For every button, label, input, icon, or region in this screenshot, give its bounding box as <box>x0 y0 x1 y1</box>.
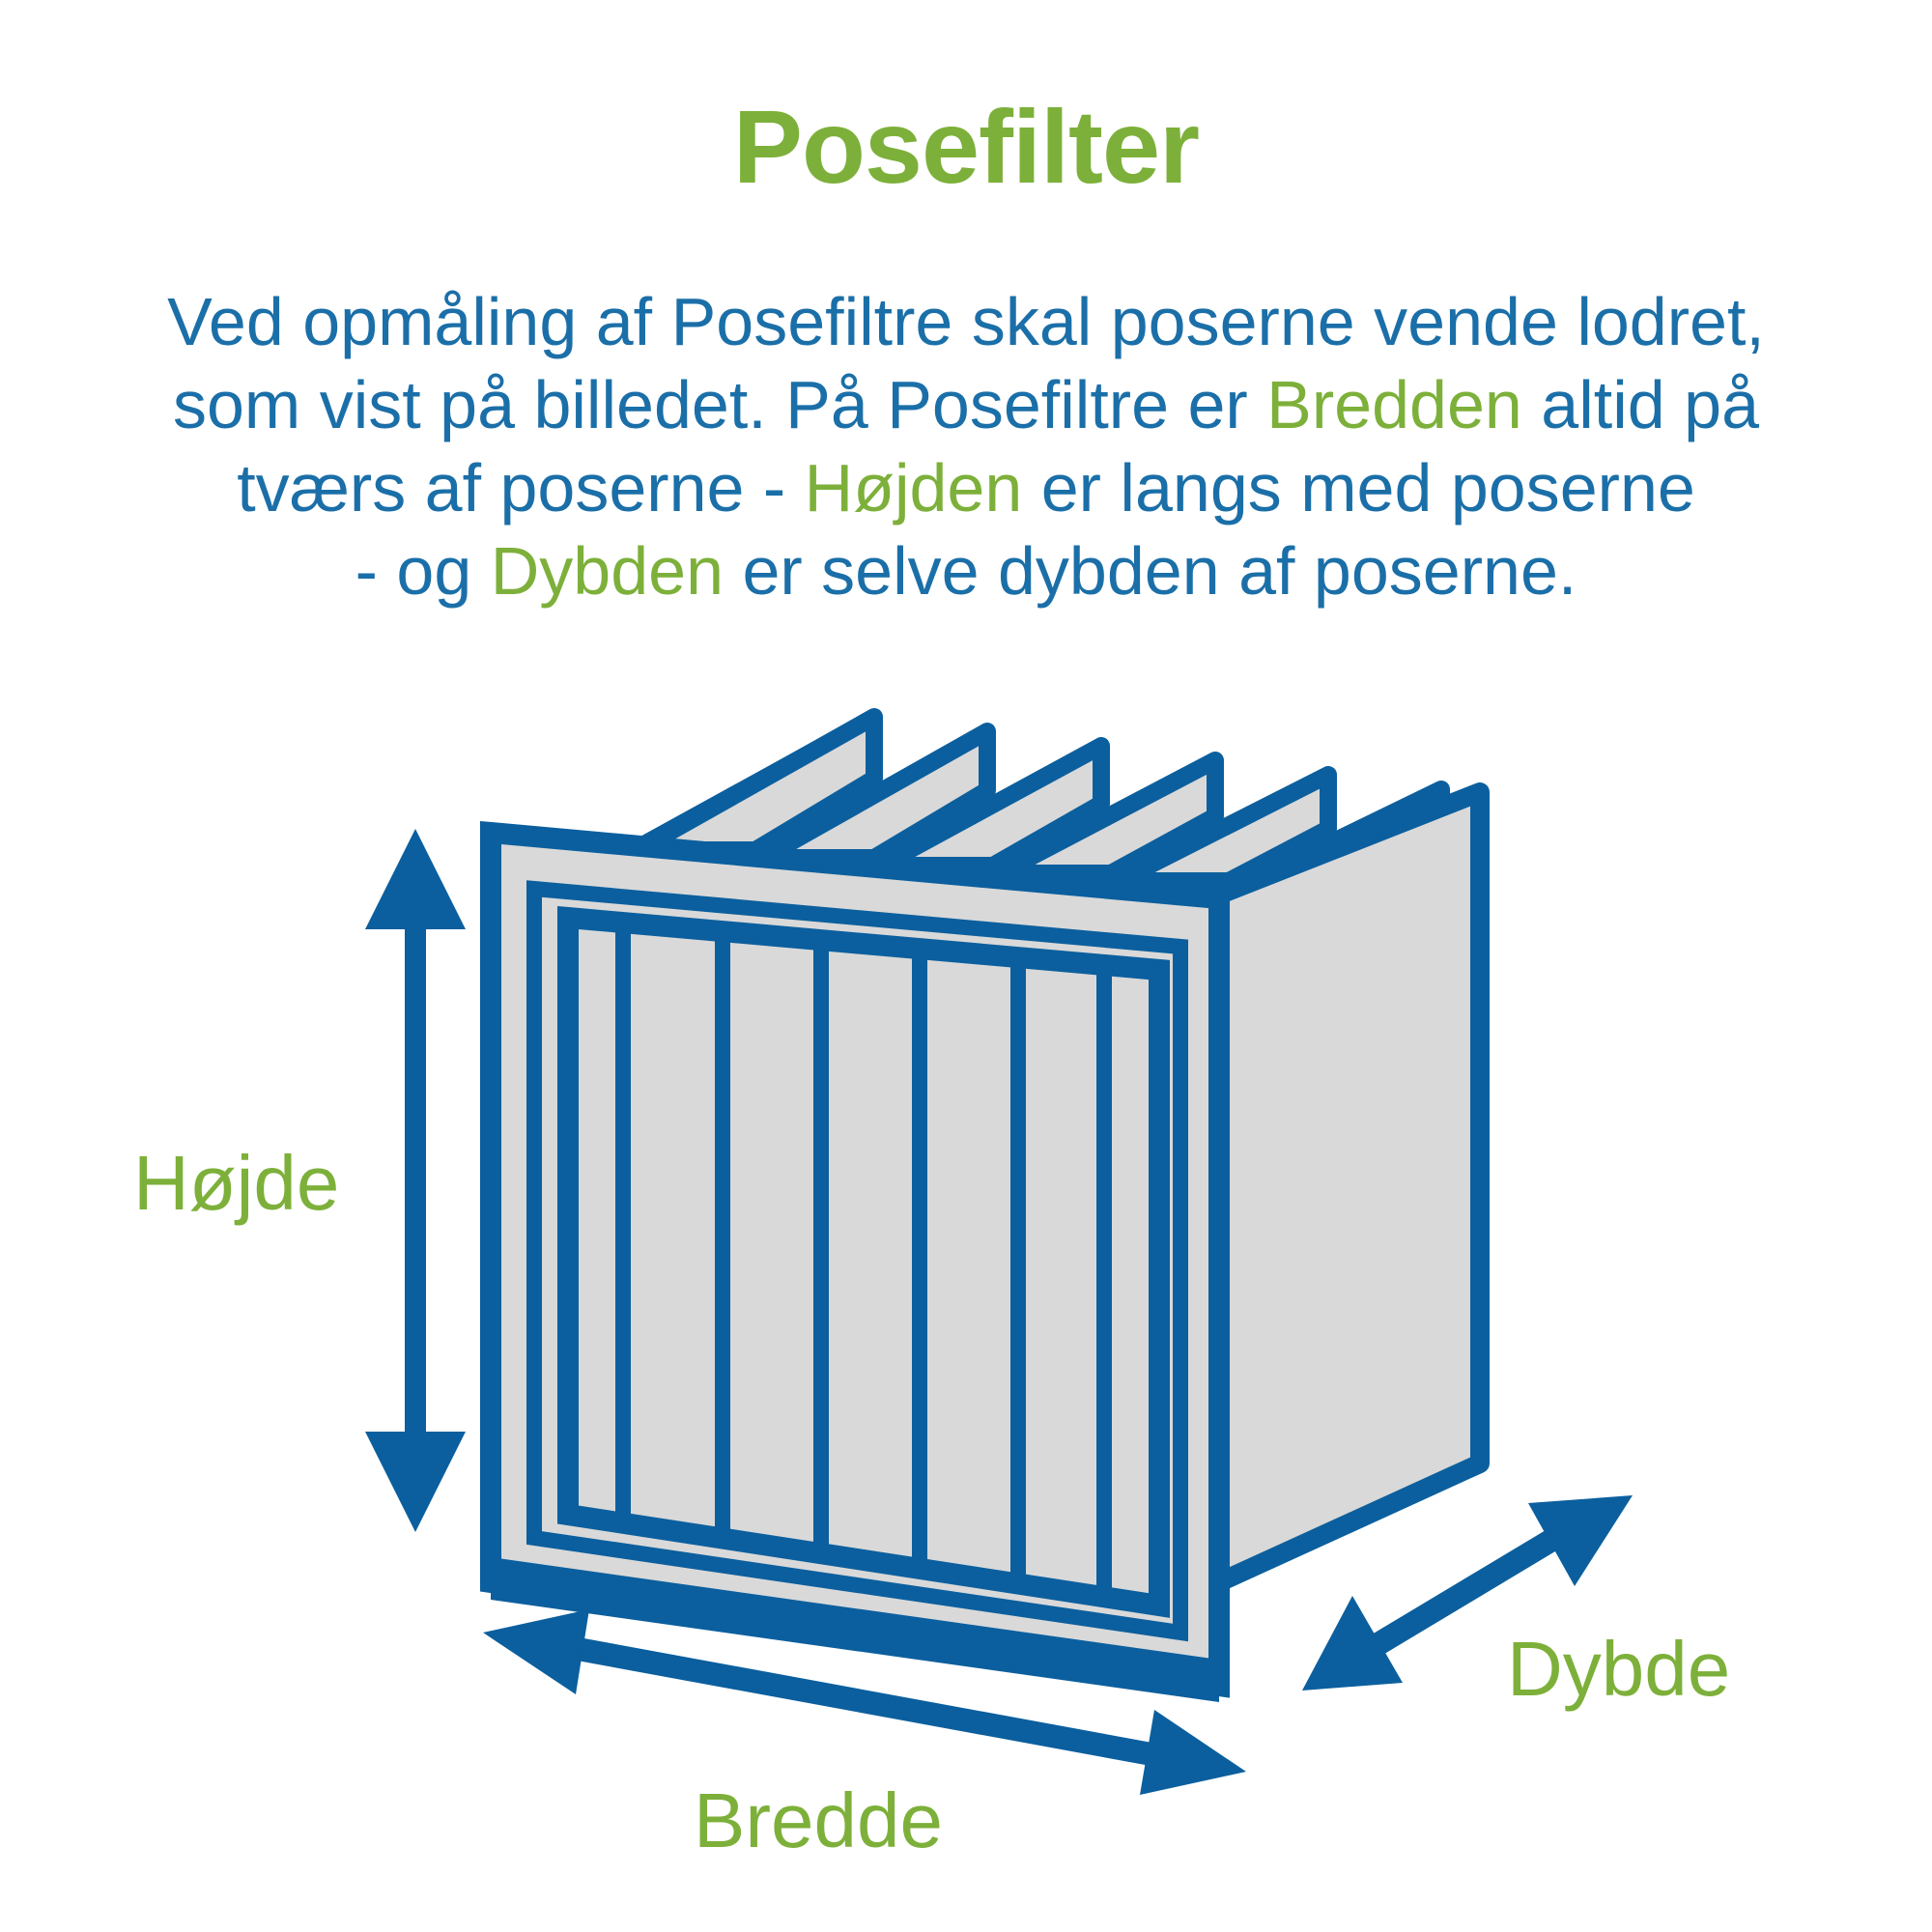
dimension-label-height: Højde <box>133 1145 339 1222</box>
height-arrow <box>365 829 466 1532</box>
filter-side-panel <box>1215 792 1480 1584</box>
dimension-label-width: Bredde <box>694 1782 943 1860</box>
poster-root: Posefilter Ved opmåling af Posefiltre sk… <box>0 0 1932 1932</box>
dimension-label-depth: Dybde <box>1507 1631 1730 1708</box>
